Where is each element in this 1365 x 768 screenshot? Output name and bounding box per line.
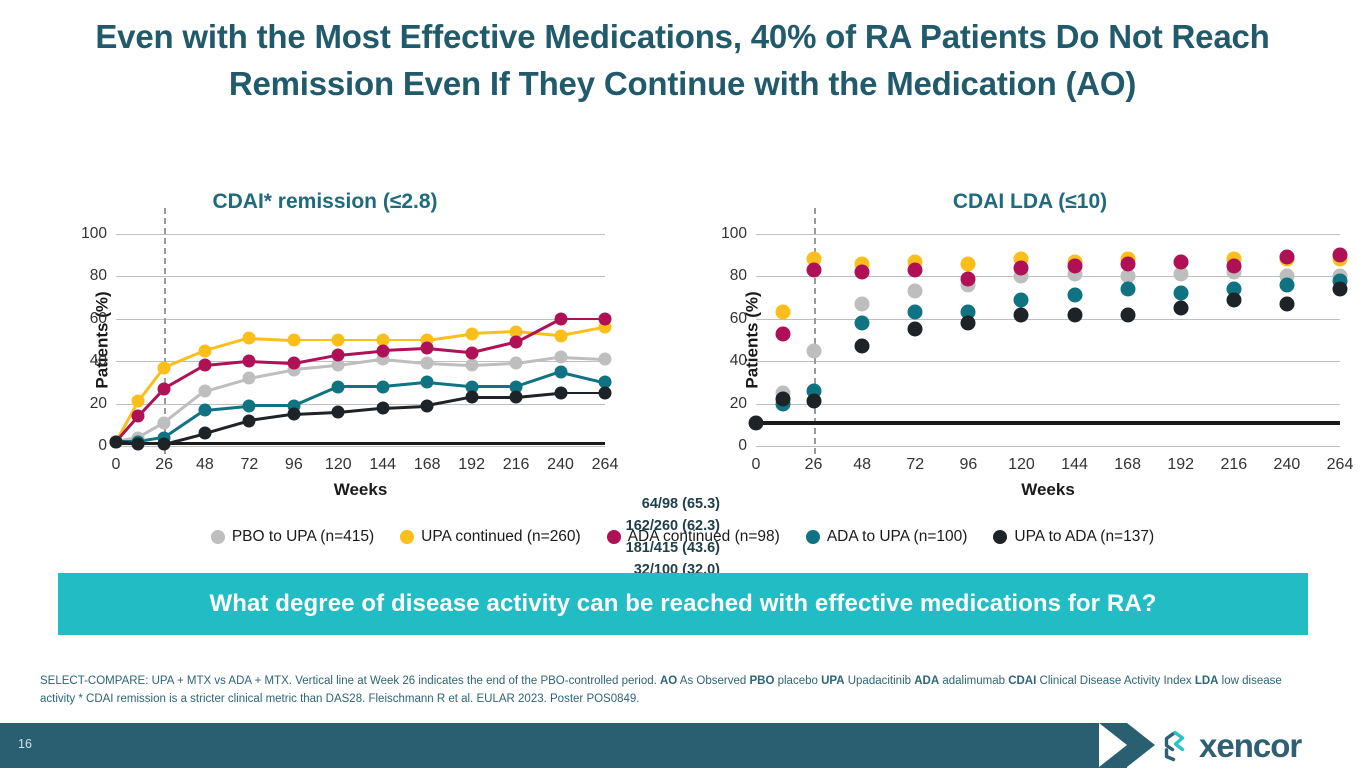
y-axis-tick: 80 [90,267,107,285]
data-point [908,322,923,337]
data-point [243,355,256,368]
data-point [1226,292,1241,307]
data-point [510,336,523,349]
data-point [421,357,434,370]
data-point [332,348,345,361]
legend-item-label: UPA to ADA (n=137) [1014,528,1154,546]
chart-cdai-lda: CDAI LDA (≤10) Patients (%) Weeks 020406… [700,190,1360,490]
data-point [1120,307,1135,322]
footer-bar-arrow [1127,723,1155,767]
data-point [961,316,976,331]
x-axis-tick: 168 [1114,456,1141,474]
x-axis-tick: 144 [369,456,396,474]
x-axis-tick: 26 [155,456,173,474]
data-point [421,342,434,355]
x-axis-tick: 48 [196,456,214,474]
data-point [1014,260,1029,275]
y-axis-tick: 100 [81,225,107,243]
data-point [158,437,171,450]
footnote-part5: adalimumab [939,675,1008,687]
chart-left-x-axis-label: Weeks [334,480,388,500]
gridline [756,361,1340,362]
legend-item-ada-continued[interactable]: ADA continued (n=98) [607,528,780,546]
data-point [376,401,389,414]
data-point [855,316,870,331]
chart-left-plot-area: Patients (%) Weeks 020406080100026487296… [116,234,605,446]
gridline [756,276,1340,277]
data-point [132,395,145,408]
footnote-part3: placebo [774,675,821,687]
footer-bar-notch [1099,723,1127,767]
legend-item-label: ADA continued (n=98) [628,528,780,546]
data-point [806,394,821,409]
data-point [1120,256,1135,271]
data-point [287,357,300,370]
data-point [465,346,478,359]
legend-item-label: ADA to UPA (n=100) [827,528,968,546]
data-point [554,312,567,325]
legend-item-upa-continued[interactable]: UPA continued (n=260) [400,528,581,546]
x-axis-tick: 0 [112,456,121,474]
data-point [1279,277,1294,292]
data-point [1279,296,1294,311]
data-point [332,334,345,347]
gridline [756,446,1340,447]
data-point [287,334,300,347]
x-axis-tick: 96 [285,456,303,474]
footnote: SELECT-COMPARE: UPA + MTX vs ADA + MTX. … [40,673,1310,709]
data-point [908,305,923,320]
baseline-rule [756,421,1340,425]
data-point [376,344,389,357]
data-point [243,414,256,427]
footnote-abbr-lda: LDA [1195,675,1219,687]
chart-annotation-value: 64/98 (65.3) [620,493,720,515]
data-point [599,312,612,325]
question-banner-text: What degree of disease activity can be r… [209,590,1156,618]
data-point [1173,254,1188,269]
data-point [376,380,389,393]
footnote-part6: Clinical Disease Activity Index [1036,675,1195,687]
data-point [855,296,870,311]
data-point [1067,307,1082,322]
chart-legend: PBO to UPA (n=415)UPA continued (n=260)A… [0,528,1365,546]
data-point [775,392,790,407]
data-point [554,329,567,342]
x-axis-tick: 120 [1008,456,1035,474]
footnote-part4: Upadacitinib [845,675,915,687]
y-axis-tick: 60 [90,310,107,328]
legend-item-label: UPA continued (n=260) [421,528,581,546]
legend-color-dot-icon [400,530,414,544]
x-axis-tick: 240 [547,456,574,474]
data-point [198,403,211,416]
xencor-mark-icon [1160,729,1194,763]
data-point [775,305,790,320]
data-point [554,365,567,378]
data-point [1226,258,1241,273]
x-axis-tick: 96 [959,456,977,474]
data-point [1120,282,1135,297]
slide-root: Even with the Most Effective Medications… [0,0,1365,768]
footnote-abbr-ao: AO [660,675,677,687]
gridline [116,319,605,320]
y-axis-tick: 20 [90,395,107,413]
y-axis-tick: 0 [98,437,107,455]
x-axis-tick: 72 [906,456,924,474]
question-banner: What degree of disease activity can be r… [58,573,1308,635]
legend-color-dot-icon [806,530,820,544]
data-point [332,406,345,419]
data-point [465,391,478,404]
data-point [198,344,211,357]
data-point [198,359,211,372]
x-axis-tick: 26 [805,456,823,474]
x-axis-tick: 0 [752,456,761,474]
data-point [243,372,256,385]
x-axis-tick: 120 [325,456,352,474]
data-point [158,382,171,395]
chart-right-title: CDAI LDA (≤10) [700,190,1360,214]
data-point [1279,250,1294,265]
legend-color-dot-icon [211,530,225,544]
legend-color-dot-icon [607,530,621,544]
x-axis-tick: 264 [592,456,619,474]
week-26-marker-line [814,208,816,454]
chart-left-y-axis-label: Patients (%) [93,291,113,388]
data-point [806,263,821,278]
data-point [855,265,870,280]
chart-cdai-remission: CDAI* remission (≤2.8) Patients (%) Week… [30,190,700,490]
chart-right-plot-area: Patients (%) Weeks 020406080100026487296… [756,234,1340,446]
gridline [756,319,1340,320]
data-point [1067,288,1082,303]
data-point [554,387,567,400]
gridline [756,404,1340,405]
footnote-abbr-pbo: PBO [749,675,774,687]
data-point [806,343,821,358]
data-point [287,408,300,421]
data-point [961,256,976,271]
data-point [908,284,923,299]
data-point [908,263,923,278]
gridline [756,234,1340,235]
data-point [198,384,211,397]
x-axis-tick: 192 [458,456,485,474]
page-title: Even with the Most Effective Medications… [0,14,1365,108]
legend-item-ada-to-upa[interactable]: ADA to UPA (n=100) [806,528,968,546]
data-point [961,271,976,286]
data-point [1173,301,1188,316]
chart-left-title: CDAI* remission (≤2.8) [0,190,660,214]
y-axis-tick: 60 [730,310,747,328]
gridline [116,446,605,447]
data-point [1014,292,1029,307]
data-point [1333,248,1348,263]
data-point [1333,282,1348,297]
page-number: 16 [18,737,32,751]
data-point [599,353,612,366]
y-axis-tick: 0 [738,437,747,455]
data-point [198,427,211,440]
footnote-abbr-cdai: CDAI [1008,675,1036,687]
data-point [554,350,567,363]
data-point [465,359,478,372]
gridline [116,276,605,277]
x-axis-tick: 192 [1167,456,1194,474]
data-point [243,399,256,412]
data-point [158,361,171,374]
data-point [421,399,434,412]
data-point [243,331,256,344]
data-point [421,376,434,389]
footnote-part2: As Observed [677,675,749,687]
data-point [599,387,612,400]
data-point [132,410,145,423]
data-point [1173,286,1188,301]
y-axis-tick: 100 [721,225,747,243]
data-point [510,391,523,404]
data-point [132,437,145,450]
data-point [110,435,123,448]
data-point [749,415,764,430]
x-axis-tick: 216 [503,456,530,474]
x-axis-tick: 216 [1220,456,1247,474]
data-point [1067,258,1082,273]
y-axis-tick: 40 [90,352,107,370]
xencor-logo-text: xencor [1199,727,1301,765]
y-axis-tick: 80 [730,267,747,285]
x-axis-tick: 168 [414,456,441,474]
legend-item-upa-to-ada[interactable]: UPA to ADA (n=137) [993,528,1154,546]
data-point [510,357,523,370]
x-axis-tick: 144 [1061,456,1088,474]
gridline [116,234,605,235]
y-axis-tick: 20 [730,395,747,413]
data-point [158,416,171,429]
baseline-rule [116,442,605,446]
x-axis-tick: 240 [1274,456,1301,474]
y-axis-tick: 40 [730,352,747,370]
footnote-part1: SELECT-COMPARE: UPA + MTX vs ADA + MTX. … [40,675,660,687]
footnote-abbr-ada: ADA [914,675,939,687]
legend-item-pbo-to-upa[interactable]: PBO to UPA (n=415) [211,528,374,546]
chart-right-y-axis-label: Patients (%) [743,291,763,388]
footer-bar [0,723,1127,768]
data-point [332,380,345,393]
legend-color-dot-icon [993,530,1007,544]
data-point [465,327,478,340]
xencor-logo: xencor [1160,727,1301,765]
data-point [1014,307,1029,322]
data-point [775,326,790,341]
x-axis-tick: 48 [853,456,871,474]
data-point [855,339,870,354]
legend-item-label: PBO to UPA (n=415) [232,528,374,546]
chart-right-x-axis-label: Weeks [1021,480,1075,500]
x-axis-tick: 72 [240,456,258,474]
x-axis-tick: 264 [1327,456,1354,474]
footnote-abbr-upa: UPA [821,675,844,687]
